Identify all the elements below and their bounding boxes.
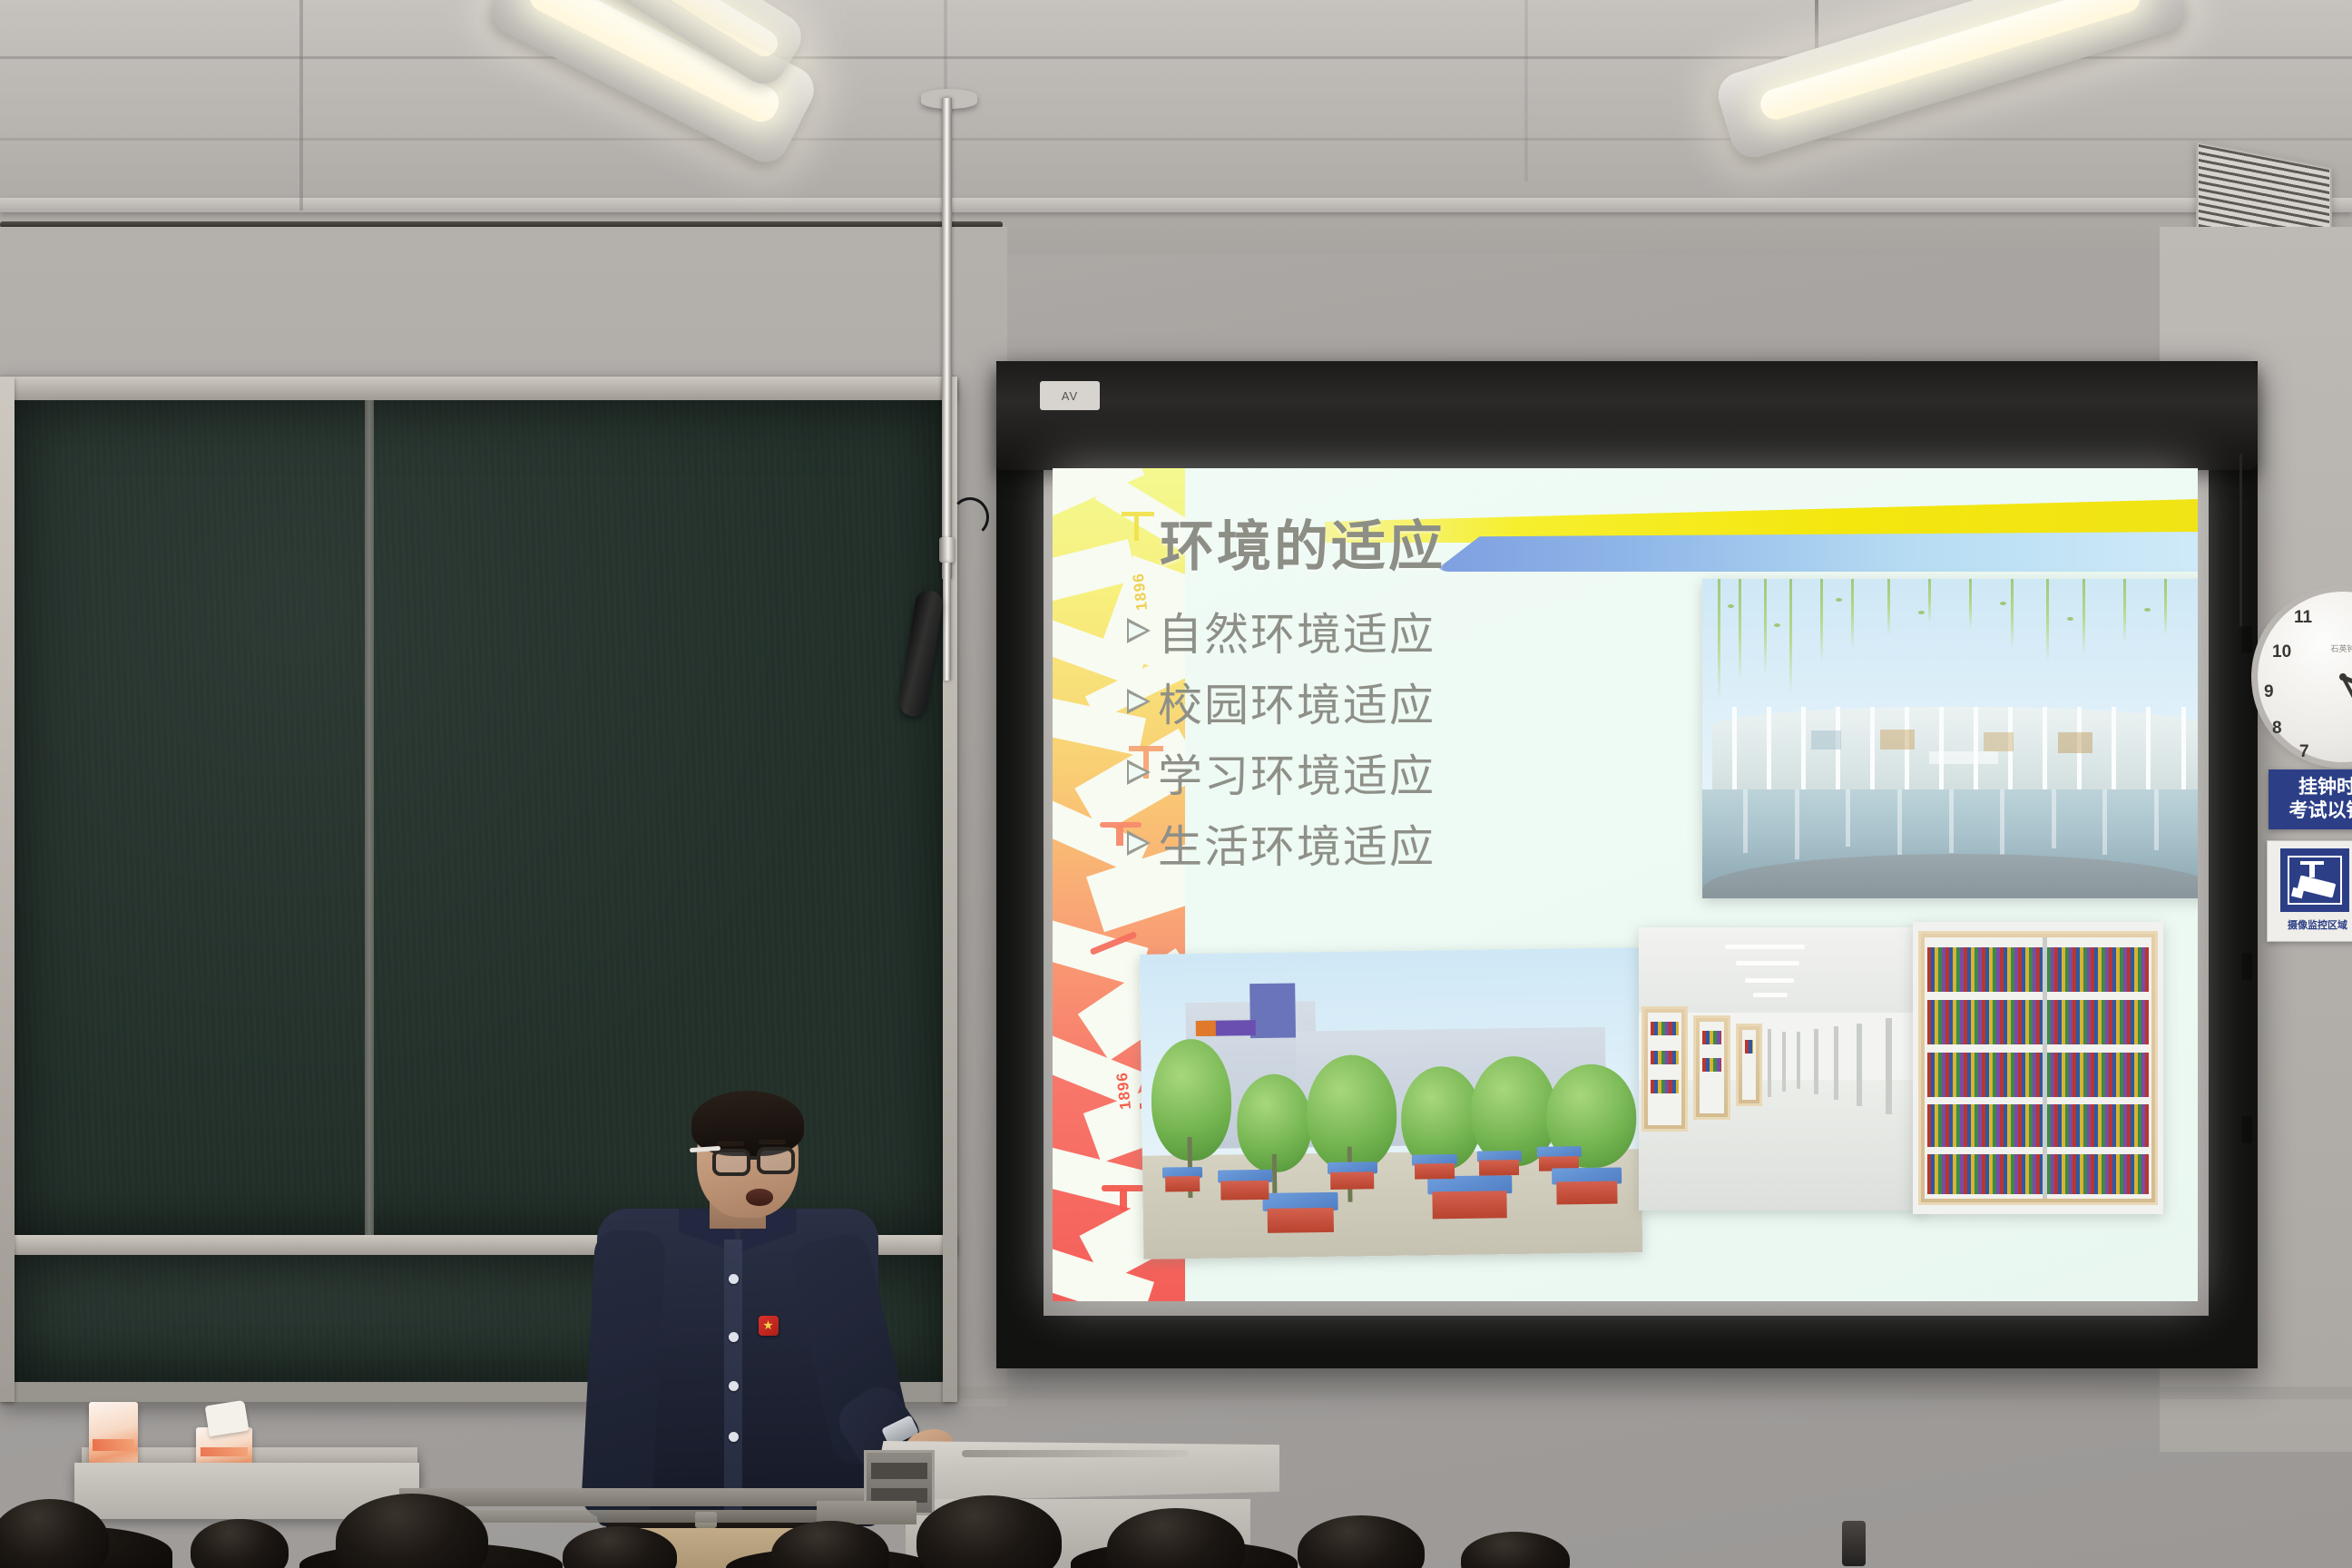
screen-edge-clip [2241, 953, 2252, 980]
shirt-button [729, 1332, 739, 1342]
projection-screen-case: AV [996, 361, 2258, 470]
clock-brand-text: 石英钟 [2258, 642, 2352, 654]
arrow-bullet-icon [1123, 683, 1158, 720]
microphone-pole-joint [939, 537, 955, 563]
clock-minute-hand [2341, 676, 2352, 739]
ceiling-seam [0, 138, 2352, 141]
chalkboard-left-edge [0, 377, 15, 1402]
clock-number: 9 [2264, 682, 2274, 702]
slide-bullet-label: 自然环境适应 [1158, 599, 1436, 663]
ceiling-seam [1524, 0, 1528, 181]
clock-number: 7 [2299, 742, 2309, 762]
podium-cable-slot [962, 1450, 1189, 1457]
slide-photo-library-bookshelf [1913, 922, 2163, 1214]
arrow-bullet-icon [1123, 825, 1158, 861]
notice-sign-line2: 考试以铃声 [2289, 799, 2352, 823]
chalkboard-top-rail [0, 377, 957, 400]
presenter-left-arm [581, 1229, 667, 1521]
screen-power-cord [2239, 454, 2242, 626]
arrow-bullet-icon [1123, 754, 1158, 790]
strip-year-lower: 1896 [1113, 1071, 1135, 1111]
presenter-mouth [746, 1189, 773, 1206]
cctv-sign: 摄像监控区域 [2267, 840, 2352, 942]
cctv-sign-label: 摄像监控区域 [2268, 917, 2352, 932]
clock-number: 8 [2272, 719, 2282, 739]
eyeglass-bridge [750, 1156, 759, 1160]
audience-head [1298, 1515, 1425, 1568]
screen-brand-badge: AV [1040, 381, 1100, 410]
lamp-hanger [1815, 0, 1818, 53]
notice-sign-line1: 挂钟时间 [2298, 776, 2352, 799]
eyeglass-lens [712, 1149, 750, 1176]
chalkboard-panel-seam [365, 400, 374, 1235]
microphone-pole-lower [943, 563, 951, 681]
slide-photo-campus-courtyard [1140, 947, 1643, 1259]
arrow-bullet-icon [1123, 612, 1158, 649]
clock-center-pin [2339, 673, 2347, 681]
screen-edge-clip [2241, 626, 2252, 653]
cctv-camera-icon [2280, 848, 2349, 912]
slide-photo-lakeside-building [1702, 579, 2198, 898]
shirt-button [729, 1432, 739, 1442]
ceiling-seam [299, 0, 303, 211]
slide-bullet-item: 生活环境适应 [1123, 808, 1436, 878]
shirt-button [729, 1274, 739, 1284]
screen-edge-clip [2241, 1116, 2252, 1143]
shirt-button [729, 1381, 739, 1391]
slide-bullet-item: 学习环境适应 [1123, 737, 1436, 808]
clock-number: 11 [2294, 608, 2312, 628]
presenter-eyebrow [759, 1140, 786, 1144]
tissue-box-stripe [93, 1439, 133, 1451]
ceiling-beam [0, 198, 2352, 212]
presenter-eyebrow [717, 1142, 744, 1146]
wall-fixture [1842, 1521, 1866, 1566]
audience-head [1461, 1532, 1570, 1568]
presentation-slide: 1896 1896 环境的适应 自然环境适应 校园环境适 [1053, 468, 2198, 1301]
slide-bullet-label: 生活环境适应 [1158, 811, 1436, 876]
tissue-box-stripe [201, 1447, 248, 1456]
red-star-badge [759, 1316, 779, 1336]
eyeglass-lens [757, 1147, 795, 1174]
slide-title: 环境的适应 [1160, 503, 1445, 582]
notice-sign: 挂钟时间 考试以铃声 [2269, 769, 2352, 829]
classroom-scene: AV 1896 [0, 0, 2352, 1568]
slide-bullet-label: 校园环境适应 [1158, 670, 1436, 734]
slide-bullet-item: 校园环境适应 [1123, 666, 1436, 737]
tissue-sheet [205, 1400, 250, 1436]
microphone-cable [951, 497, 989, 537]
slide-bullet-item: 自然环境适应 [1123, 595, 1436, 666]
slide-bullet-list: 自然环境适应 校园环境适应 学习环境适应 生活环境适应 [1123, 595, 1436, 878]
slide-banner-blue [1434, 532, 2198, 572]
slide-photo-library-corridor [1639, 927, 1926, 1210]
audience-head [191, 1519, 289, 1568]
rack-slot [871, 1463, 927, 1479]
slide-bullet-label: 学习环境适应 [1158, 740, 1436, 805]
microphone-pole [942, 98, 952, 579]
